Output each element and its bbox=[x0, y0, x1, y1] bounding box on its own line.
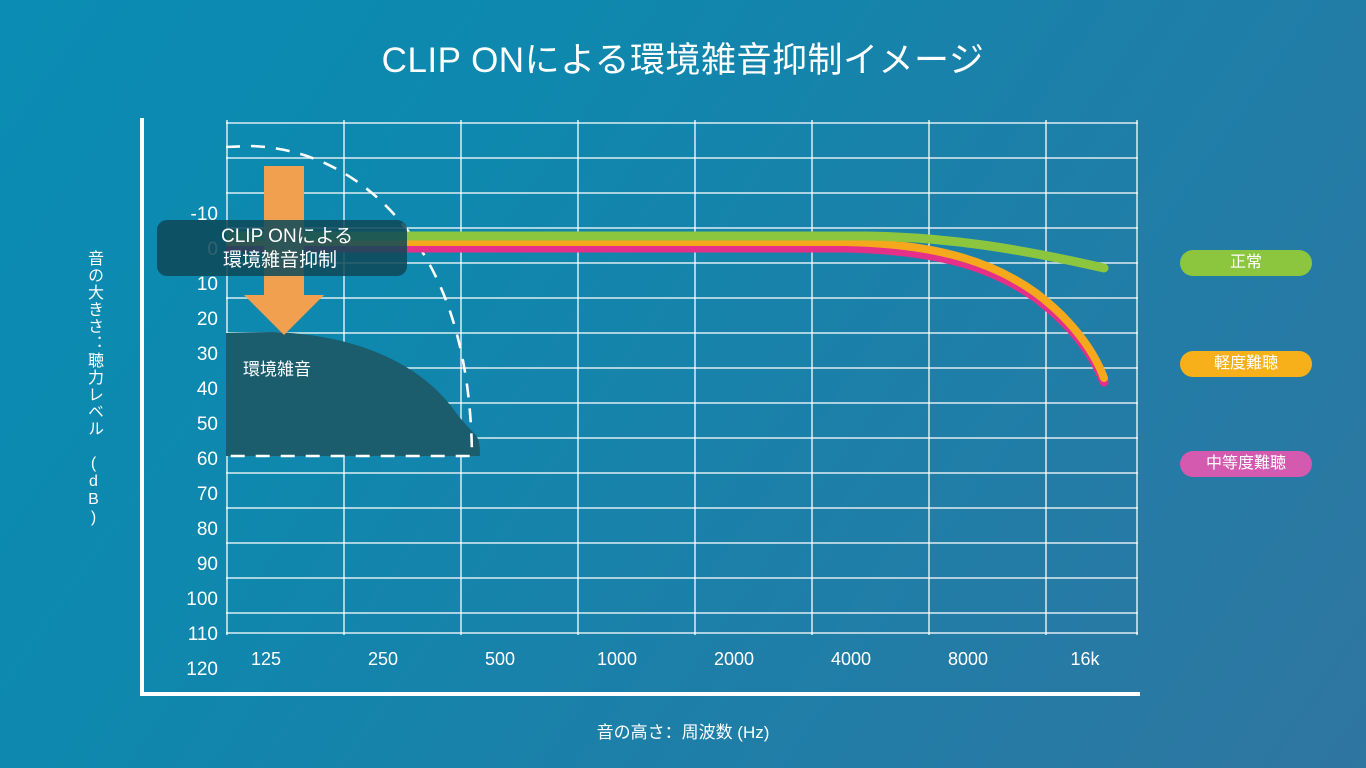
noise-region-label: 環境雑音 bbox=[243, 355, 311, 380]
y-tick-label: 10 bbox=[158, 275, 218, 294]
noise-region bbox=[226, 332, 480, 456]
x-tick-label: 2000 bbox=[694, 650, 774, 668]
y-tick-label: 40 bbox=[158, 380, 218, 399]
y-tick-label: 90 bbox=[158, 555, 218, 574]
y-tick-label: 50 bbox=[158, 415, 218, 434]
y-tick-label: 120 bbox=[158, 660, 218, 679]
y-tick-label: 70 bbox=[158, 485, 218, 504]
x-tick-label: 125 bbox=[226, 650, 306, 668]
legend-badge-moderate-loss[interactable]: 中等度難聴 bbox=[1180, 451, 1312, 477]
x-tick-label: 4000 bbox=[811, 650, 891, 668]
plot-area bbox=[226, 120, 1138, 635]
x-tick-label: 8000 bbox=[928, 650, 1008, 668]
x-tick-label: 500 bbox=[460, 650, 540, 668]
x-tick-label: 1000 bbox=[577, 650, 657, 668]
y-tick-label: 110 bbox=[158, 625, 218, 644]
legend-badge-mild-loss[interactable]: 軽度難聴 bbox=[1180, 351, 1312, 377]
chart-svg bbox=[226, 120, 1138, 635]
y-tick-label: 100 bbox=[158, 590, 218, 609]
callout-box: CLIP ONによる 環境雑音抑制 bbox=[157, 220, 407, 276]
callout-line-2: 環境雑音抑制 bbox=[221, 249, 407, 273]
x-tick-label: 16k bbox=[1045, 650, 1125, 668]
page-title: CLIP ONによる環境雑音抑制イメージ bbox=[0, 32, 1366, 83]
x-tick-label: 250 bbox=[343, 650, 423, 668]
y-tick-label: 60 bbox=[158, 450, 218, 469]
y-axis-title: 音の大きさ：聴力レベル (dB) bbox=[78, 250, 104, 527]
x-axis-title: 音の高さ：周波数 (Hz) bbox=[0, 718, 1366, 743]
y-tick-label: 20 bbox=[158, 310, 218, 329]
legend-badge-normal[interactable]: 正常 bbox=[1180, 250, 1312, 276]
callout-line-1: CLIP ONによる bbox=[221, 225, 407, 249]
y-tick-label: 30 bbox=[158, 345, 218, 364]
slide-canvas: CLIP ONによる環境雑音抑制イメージ bbox=[0, 0, 1366, 768]
y-tick-label: 80 bbox=[158, 520, 218, 539]
